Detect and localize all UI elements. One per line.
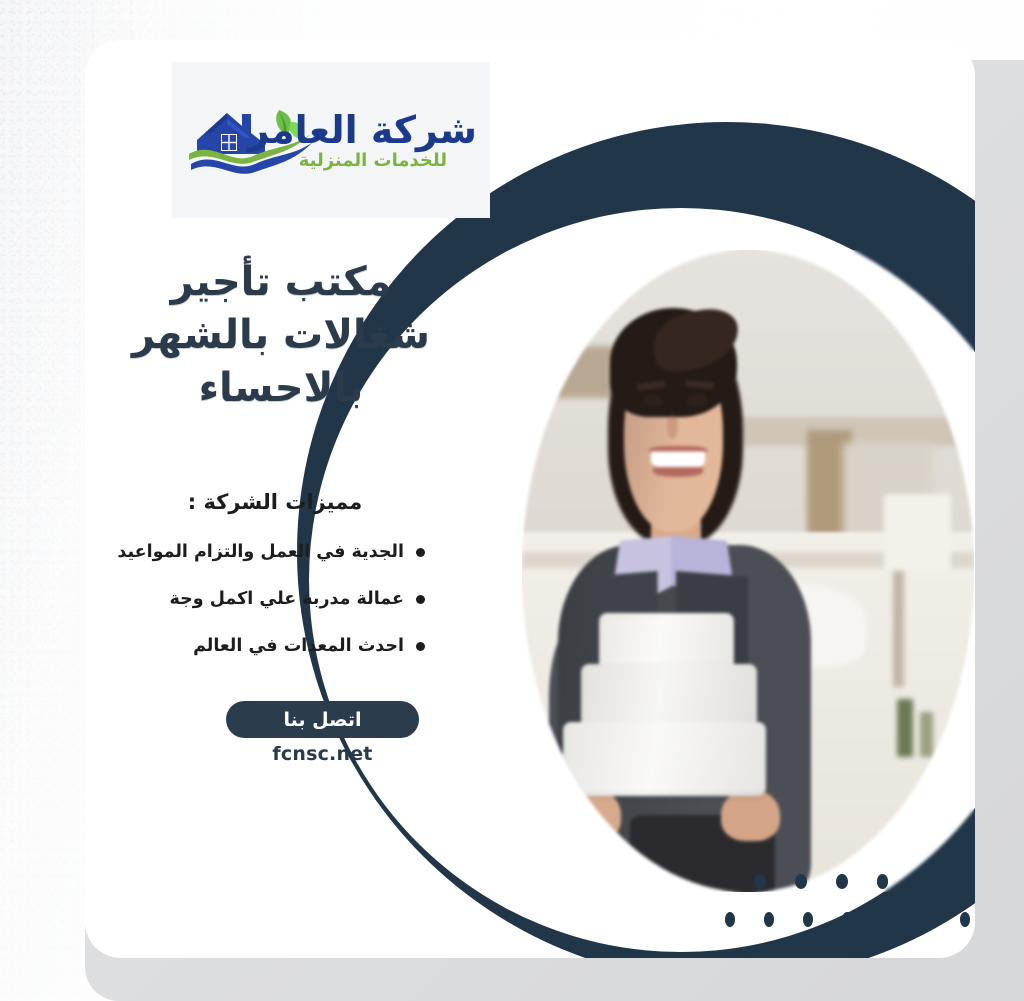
dot	[921, 912, 931, 927]
contact-us-label: اتصل بنا	[284, 709, 362, 731]
list-item: احدث المعدات في العالم	[125, 636, 425, 656]
dot	[917, 874, 929, 889]
dot	[842, 912, 852, 927]
dot	[764, 912, 774, 927]
company-logo[interactable]: شركة العامر للخدمات المنزلية	[172, 62, 490, 218]
dot-row	[754, 874, 970, 889]
page-title: مكتب تأجير شغالات بالشهر بالاحساء	[116, 256, 446, 414]
logo-company-name: شركة العامر	[247, 108, 477, 152]
dot	[795, 874, 807, 889]
list-item: الجدية في العمل والتزام المواعيد	[125, 542, 425, 562]
maid-photo	[522, 250, 974, 892]
website-link[interactable]: fcnsc.net	[226, 743, 419, 765]
contact-us-button[interactable]: اتصل بنا	[226, 701, 419, 738]
list-item: عمالة مدربة علي اكمل وجة	[125, 589, 425, 609]
dot	[803, 912, 813, 927]
dot	[960, 912, 970, 927]
dot	[958, 874, 970, 889]
poster-card: شركة العامر للخدمات المنزلية مكتب تأجير …	[85, 40, 975, 958]
dot	[836, 874, 848, 889]
features-section: مميزات الشركة : الجدية في العمل والتزام …	[125, 490, 425, 683]
features-heading: مميزات الشركة :	[125, 490, 425, 514]
dot	[725, 912, 735, 927]
bullet-icon	[416, 548, 425, 557]
dot	[754, 874, 766, 889]
dot	[877, 874, 889, 889]
feature-label: احدث المعدات في العالم	[193, 636, 404, 656]
logo-tagline: للخدمات المنزلية	[299, 150, 447, 171]
poster-canvas: شركة العامر للخدمات المنزلية مكتب تأجير …	[0, 0, 1024, 1001]
feature-label: عمالة مدربة علي اكمل وجة	[170, 589, 404, 609]
bullet-icon	[416, 595, 425, 604]
dot	[882, 912, 892, 927]
dot-row	[725, 912, 970, 927]
feature-label: الجدية في العمل والتزام المواعيد	[117, 542, 404, 562]
dot-grid-decoration	[725, 874, 970, 946]
bullet-icon	[416, 642, 425, 651]
